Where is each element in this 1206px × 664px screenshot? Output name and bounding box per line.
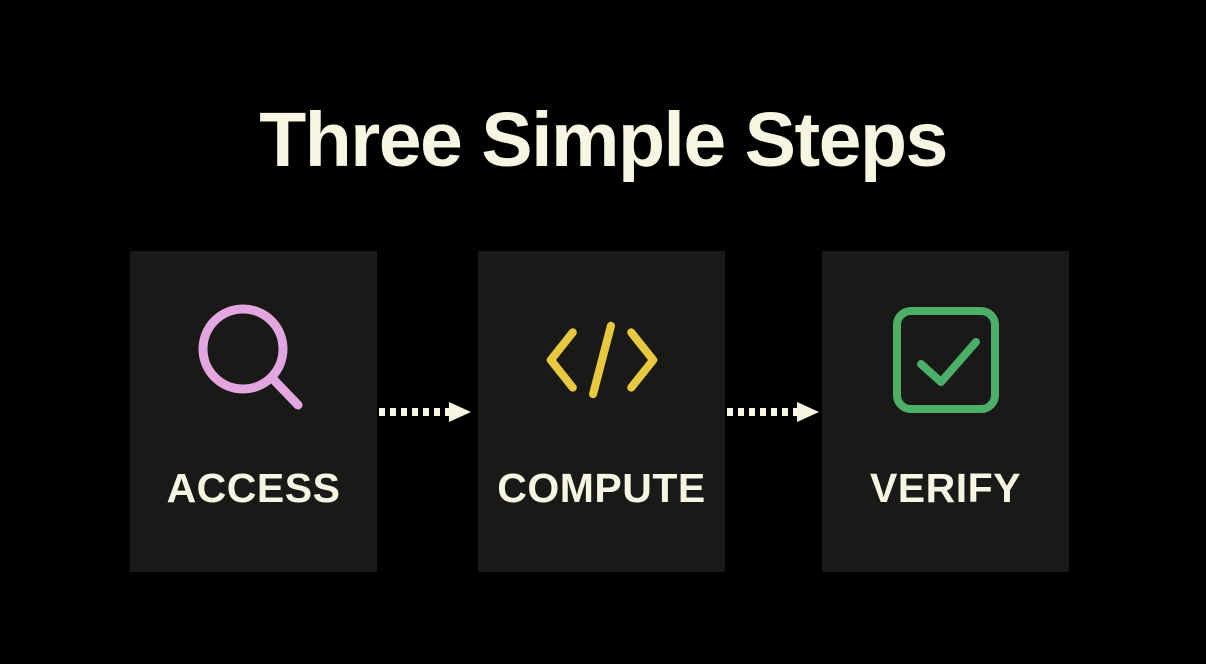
arrow-access-to-compute: [377, 398, 477, 426]
steps-row: ACCESS COMPUTE: [0, 251, 1206, 572]
step-label-access: ACCESS: [130, 465, 377, 512]
arrow-compute-to-verify: [725, 398, 825, 426]
magnifying-glass-icon: [189, 295, 319, 425]
step-card-compute[interactable]: COMPUTE: [478, 251, 725, 572]
step-card-verify[interactable]: VERIFY: [822, 251, 1069, 572]
step-label-verify: VERIFY: [822, 465, 1069, 512]
step-label-compute: COMPUTE: [478, 465, 725, 512]
check-square-icon: [881, 295, 1011, 425]
slide-canvas: Three Simple Steps ACCESS: [0, 0, 1206, 664]
step-card-access[interactable]: ACCESS: [130, 251, 377, 572]
page-title: Three Simple Steps: [0, 93, 1206, 187]
code-brackets-icon: [537, 295, 667, 425]
